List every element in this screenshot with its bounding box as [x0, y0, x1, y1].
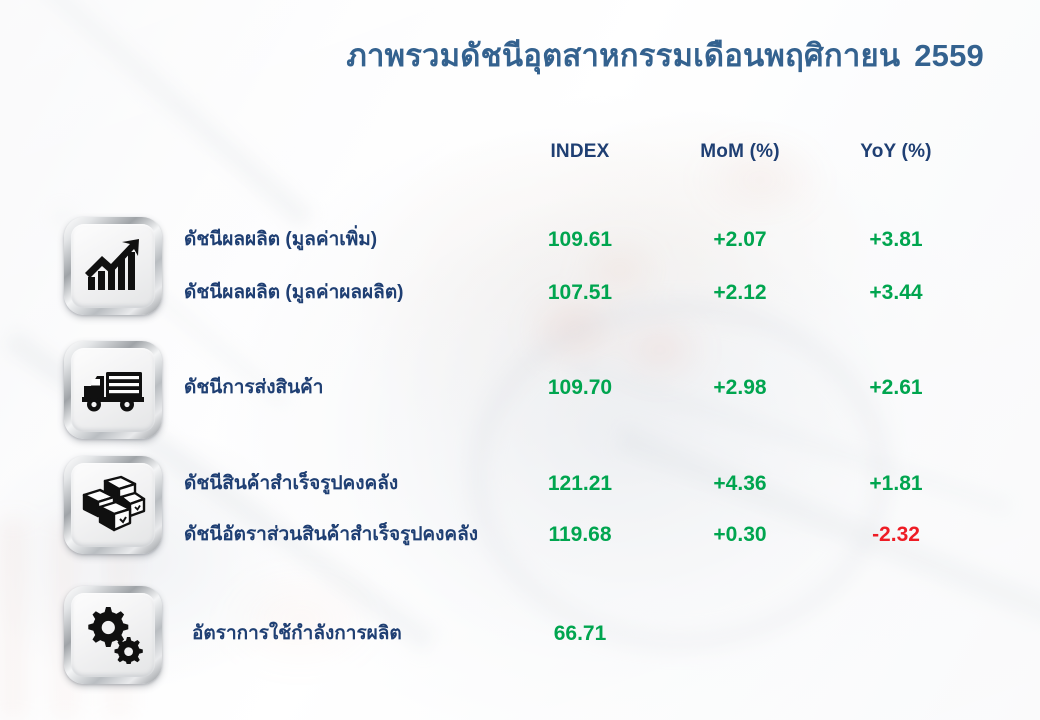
row-yoy: +3.81 [832, 223, 960, 257]
row-label: อัตราการใช้กำลังการผลิต [192, 617, 532, 651]
row-yoy: +1.81 [832, 467, 960, 501]
row-mom: +4.36 [676, 467, 804, 501]
row-index: 121.21 [516, 467, 644, 501]
column-header-yoy-label: YoY (%) [860, 141, 931, 162]
slide-canvas: ภาพรวมดัชนีอุตสาหกรรมเดือนพฤศิกายน2559 I… [0, 0, 1040, 720]
row-yoy: +3.44 [832, 276, 960, 310]
column-header-index: INDEX [516, 141, 644, 167]
row-label: ดัชนีผลผลิต (มูลค่าผลผลิต) [184, 276, 524, 310]
table-row: ดัชนีผลผลิต (มูลค่าผลผลิต) 107.51 +2.12 … [0, 276, 1040, 310]
column-header-mom-label: MoM (%) [700, 141, 780, 162]
row-mom: +0.30 [676, 518, 804, 552]
page-title-text: ภาพรวมดัชนีอุตสาหกรรมเดือนพฤศิกายน [346, 38, 900, 73]
column-header-mom: MoM (%) [676, 141, 804, 167]
page-title-year: 2559 [914, 38, 984, 73]
row-label: ดัชนีผลผลิต (มูลค่าเพิ่ม) [184, 223, 524, 257]
table-row: ดัชนีอัตราส่วนสินค้าสำเร็จรูปคงคลัง 119.… [0, 518, 1040, 552]
row-mom: +2.07 [676, 223, 804, 257]
column-header-index-label: INDEX [550, 141, 609, 162]
table-row: ดัชนีผลผลิต (มูลค่าเพิ่ม) 109.61 +2.07 +… [0, 223, 1040, 257]
row-label: ดัชนีการส่งสินค้า [184, 371, 524, 405]
table-row: ดัชนีสินค้าสำเร็จรูปคงคลัง 121.21 +4.36 … [0, 467, 1040, 501]
row-index: 66.71 [516, 617, 644, 651]
column-header-yoy: YoY (%) [832, 141, 960, 167]
row-index: 109.61 [516, 223, 644, 257]
row-mom: +2.98 [676, 371, 804, 405]
row-yoy: +2.61 [832, 371, 960, 405]
row-label: ดัชนีสินค้าสำเร็จรูปคงคลัง [184, 467, 524, 501]
page-title: ภาพรวมดัชนีอุตสาหกรรมเดือนพฤศิกายน2559 [0, 30, 984, 80]
table-row: ดัชนีการส่งสินค้า 109.70 +2.98 +2.61 [0, 371, 1040, 405]
row-mom: +2.12 [676, 276, 804, 310]
table-row: อัตราการใช้กำลังการผลิต 66.71 [0, 617, 1040, 651]
row-index: 119.68 [516, 518, 644, 552]
row-index: 109.70 [516, 371, 644, 405]
row-index: 107.51 [516, 276, 644, 310]
row-yoy: -2.32 [832, 518, 960, 552]
row-label: ดัชนีอัตราส่วนสินค้าสำเร็จรูปคงคลัง [184, 518, 524, 552]
